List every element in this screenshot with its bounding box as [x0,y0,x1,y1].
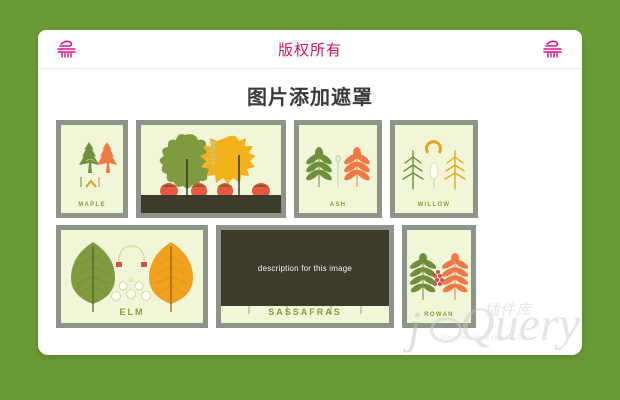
gallery-item-ash[interactable]: ASH [294,120,382,218]
wind-icon [54,38,80,60]
gallery-row: ELM [56,225,564,328]
gallery-item-caption: WILLOW [395,202,473,208]
gallery-item-mask-text: description for this image [258,264,352,273]
copyright-title: 版权所有 [278,39,342,60]
gallery-row: MAPLE [56,120,564,218]
watermark-subtitle: Share The Things That Are Good [440,335,531,341]
ash-illustration [299,125,377,213]
gallery-item-caption: ELM [61,307,203,317]
gallery-item-mask [141,195,281,213]
gallery-item-caption: ASH [299,202,377,208]
page-title: 图片添加遮罩 [38,81,582,110]
gallery-item-rowan[interactable]: ROWAN [402,225,476,328]
top-bar: 版权所有 [38,30,582,69]
screen: 版权所有 图片添加遮罩 [0,0,620,400]
willow-illustration [395,125,473,213]
image-gallery: MAPLE [38,120,582,328]
gallery-item-caption: MAPLE [61,202,123,208]
gallery-item-willow[interactable]: WILLOW [390,120,478,218]
app-panel: 版权所有 图片添加遮罩 [38,30,582,355]
gallery-item-caption: ROWAN [407,312,471,318]
rowan-illustration [407,230,471,323]
gallery-item-caption: SASSAFRAS [221,307,389,317]
gallery-item-oak[interactable]: OAK [136,120,286,218]
gallery-item-elm[interactable]: ELM [56,225,208,328]
gallery-item-maple[interactable]: MAPLE [56,120,128,218]
maple-illustration [61,125,123,213]
gallery-item-sassafras[interactable]: SASSAFRAS description for this image [216,225,394,328]
wind-icon [540,38,566,60]
gallery-item-mask: description for this image [221,230,389,306]
